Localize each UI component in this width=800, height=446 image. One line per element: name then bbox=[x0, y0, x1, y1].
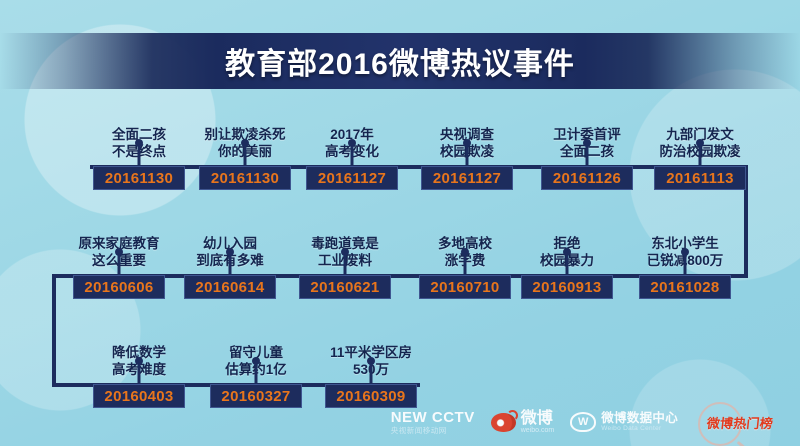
weibo-data-center-text: 微博数据中心 bbox=[601, 412, 678, 425]
event-stem bbox=[255, 362, 258, 384]
footer-logo-bar: NEW CCTV 央视新闻移动网 微博 weibo.com W 微博数据中心 W… bbox=[0, 398, 800, 446]
logo-weibo-data-center: W 微博数据中心 Weibo Data Center bbox=[570, 412, 678, 433]
weibo-data-center-mark-icon: W bbox=[570, 412, 596, 432]
logo-weibo: 微博 weibo.com bbox=[491, 411, 554, 434]
event-stem bbox=[138, 362, 141, 384]
event-stem bbox=[370, 362, 373, 384]
logo-hot-ranking-badge: 微博热门榜 bbox=[694, 405, 786, 439]
cctv-logo-text: NEW CCTV bbox=[391, 410, 475, 425]
weibo-logo-subtext: weibo.com bbox=[521, 427, 554, 434]
infographic-canvas: 教育部2016微博热议事件 全面二孩 不是终点 20161130 别让欺凌杀死 … bbox=[0, 0, 800, 446]
weibo-logo-text: 微博 bbox=[521, 411, 554, 427]
hot-ranking-badge-text: 微博热门榜 bbox=[706, 413, 774, 432]
weibo-data-center-subtext: Weibo Data Center bbox=[601, 426, 678, 433]
timeline-row-3: 降低数学 高考难度 20160403 留守儿童 估算约1亿 20160327 1… bbox=[0, 218, 800, 408]
cctv-logo-subtext: 央视新闻移动网 bbox=[391, 427, 475, 435]
logo-cctv: NEW CCTV 央视新闻移动网 bbox=[391, 410, 475, 435]
weibo-eye-icon bbox=[491, 413, 516, 432]
